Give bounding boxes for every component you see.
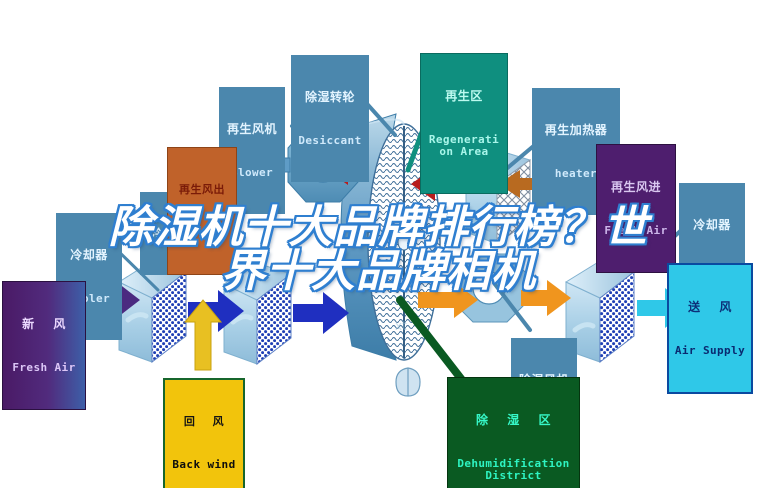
label-desiccant-wheel[interactable]: 除湿转轮 Desiccant [291,55,369,182]
label-regeneration-area-cn: 再生区 [423,90,505,102]
label-desiccant-wheel-cn: 除湿转轮 [293,91,367,103]
label-air-supply[interactable]: 送 风 Air Supply [667,263,753,394]
label-cooler-left-cn: 冷却器 [58,249,120,261]
label-fresh-air-left-en: Fresh Air [5,362,83,373]
label-exhaust-cn: 再生风出 [170,184,234,195]
label-back-wind-cn: 回 风 [167,416,241,427]
arrow-process-air-2 [293,292,349,334]
label-desiccant-wheel-en: Desiccant [293,135,367,146]
label-dehumidification-district[interactable]: 除 湿 区 Dehumidification District [447,377,580,488]
label-exhaust[interactable]: 再生风出 Exhaust [167,147,237,275]
label-back-wind[interactable]: 回 风 Back wind [163,378,245,488]
arrow-dehum-transfer-2 [521,280,571,316]
label-dehumidification-district-cn: 除 湿 区 [450,414,577,426]
label-dehumidification-district-en: Dehumidification District [450,458,577,480]
label-regeneration-blower-cn: 再生风机 [221,123,283,135]
label-fresh-air-left-cn: 新 风 [5,318,83,330]
label-regeneration-fresh-air-en: Fresh Air [599,225,673,236]
cooling-coil-left [119,261,186,362]
diagram-canvas: xt [0,0,757,488]
label-regeneration-area-en: Regenerati on Area [423,134,505,156]
label-regeneration-heater-cn: 再生加热器 [534,124,618,136]
label-cooler-right-cn: 冷却器 [681,219,743,231]
label-regeneration-area[interactable]: 再生区 Regenerati on Area [420,53,508,194]
svg-text:xt: xt [395,319,407,333]
label-back-wind-en: Back wind [167,459,241,470]
label-exhaust-en: Exhaust [170,227,234,238]
label-regeneration-fresh-air-cn: 再生风进 [599,181,673,193]
label-air-supply-en: Air Supply [671,345,749,356]
label-regeneration-fresh-air[interactable]: 再生风进 Fresh Air [596,144,676,273]
label-air-supply-cn: 送 风 [671,301,749,313]
label-fresh-air-left[interactable]: 新 风 Fresh Air [2,281,86,410]
